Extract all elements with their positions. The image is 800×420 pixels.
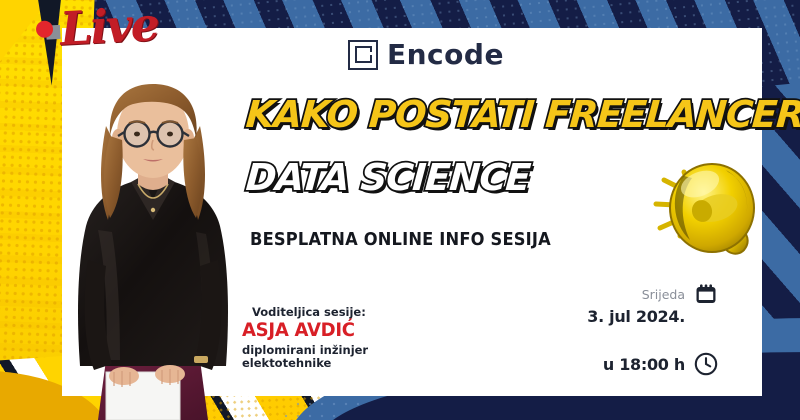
schedule-time-row: u 18:00 h — [587, 352, 718, 376]
live-label: Live — [59, 1, 159, 52]
schedule-block: Srijeda 3. jul 2024. u 18:00 h — [587, 282, 718, 376]
presenter-name: ASJA AVDIĆ — [242, 320, 362, 341]
presenter-role: Voditeljica sesije: — [242, 306, 368, 319]
encode-logo-text: Encode — [387, 38, 504, 71]
promo-banner: Live Encode — [0, 0, 800, 420]
subtitle-text: BESPLATNA ONLINE INFO SESIJA — [250, 230, 551, 250]
schedule-date: 3. jul 2024. — [587, 307, 685, 326]
schedule-time: u 18:00 h — [603, 355, 685, 374]
encode-logo: Encode — [348, 38, 504, 71]
headline-line-2: DATA SCIENCE — [245, 159, 800, 196]
encode-square-e-icon — [348, 40, 378, 70]
clock-icon — [694, 352, 718, 376]
calendar-icon — [694, 282, 718, 306]
presenter-photo — [28, 60, 278, 420]
headline-block: KAKO POSTATI FREELANCER: DATA SCIENCE — [246, 96, 800, 196]
heart-dot-icon — [35, 17, 62, 42]
live-badge: Live — [35, 1, 159, 53]
schedule-date-value-row: 3. jul 2024. — [587, 307, 718, 326]
schedule-date-row: Srijeda — [587, 282, 718, 306]
presenter-description-line-2: elektotehnike — [242, 357, 368, 370]
schedule-day: Srijeda — [642, 287, 685, 302]
presenter-block: Voditeljica sesije: ASJA AVDIĆ diplomira… — [242, 306, 368, 370]
headline-line-1: KAKO POSTATI FREELANCER: — [245, 96, 800, 133]
